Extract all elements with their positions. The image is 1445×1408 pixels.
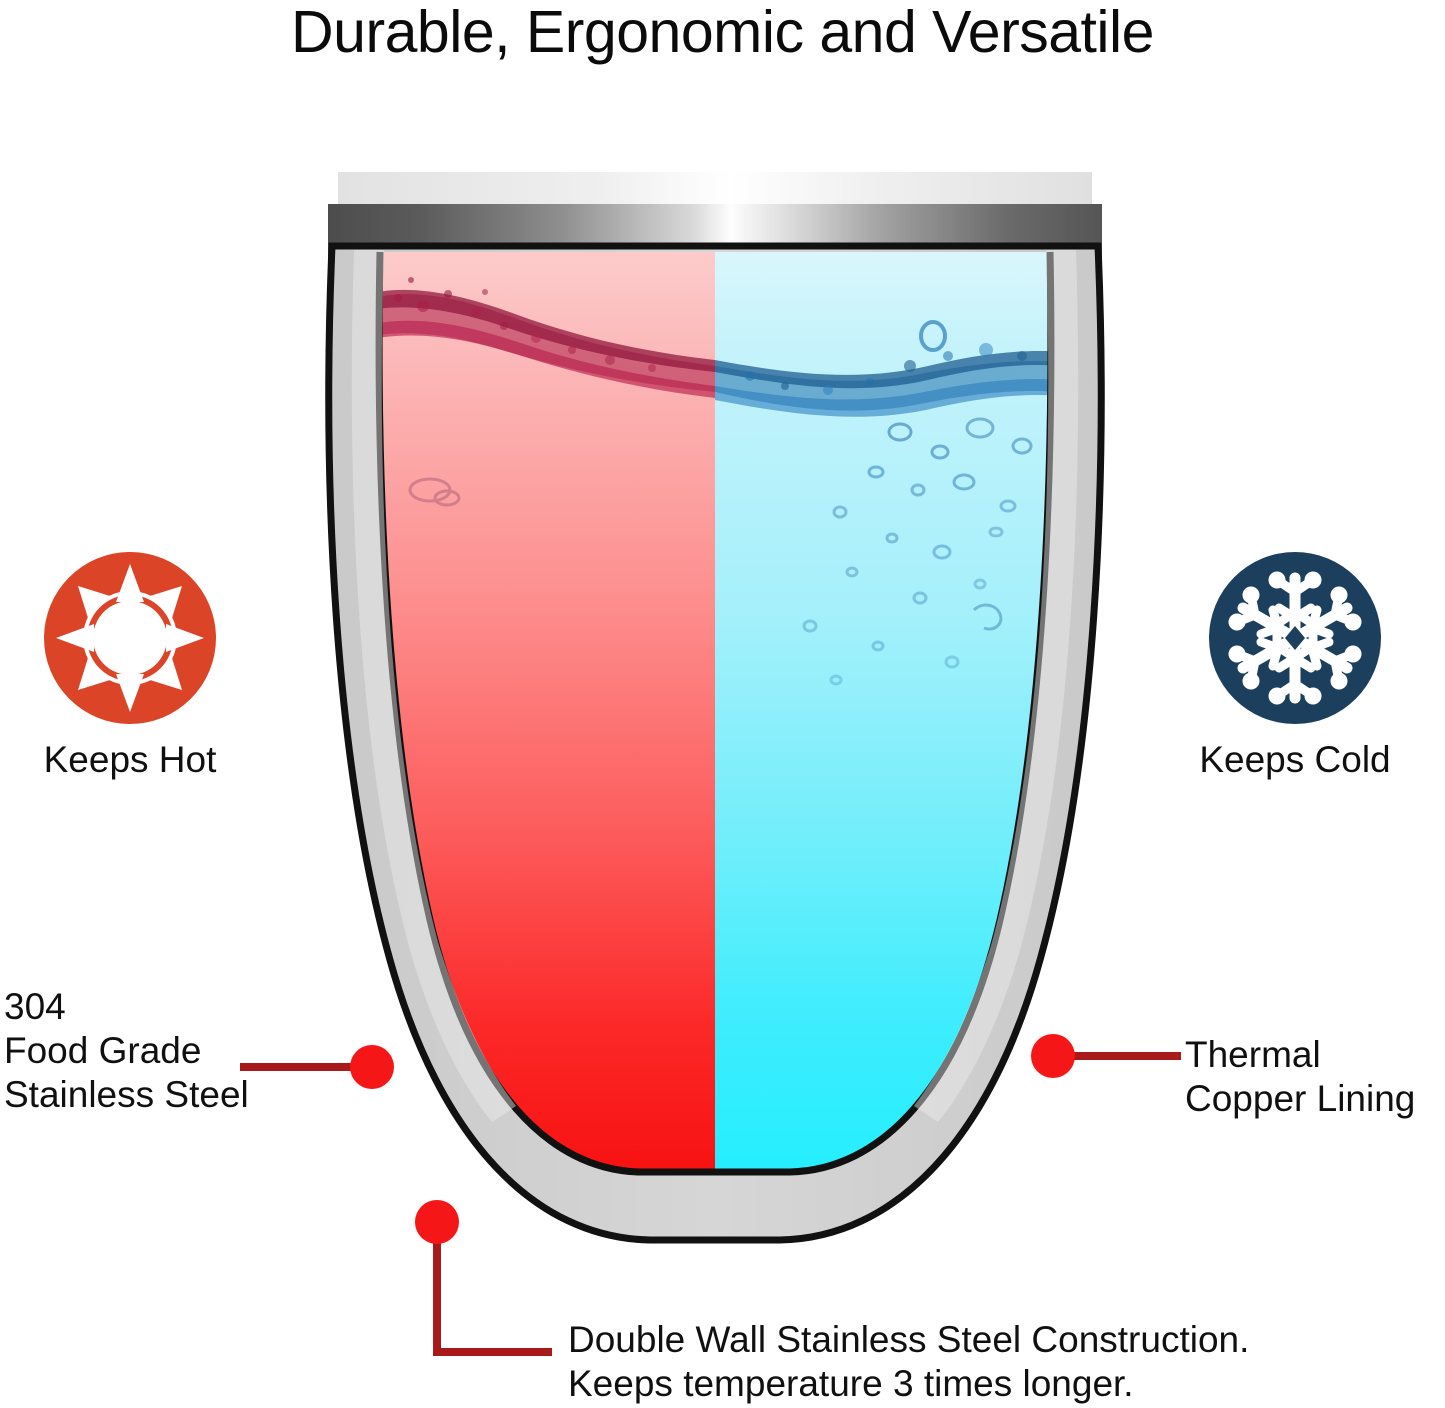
badge-keeps-cold: Keeps Cold xyxy=(1180,552,1410,782)
badge-keeps-hot: Keeps Hot xyxy=(15,552,245,782)
callout-line: Thermal xyxy=(1185,1033,1415,1077)
callout-line: 304 xyxy=(4,985,249,1029)
callout-line: Double Wall Stainless Steel Construction… xyxy=(568,1318,1249,1362)
keeps-cold-circle xyxy=(1209,552,1381,724)
product-infographic: Durable, Ergonomic and Versatile xyxy=(0,0,1445,1408)
snowflake-icon xyxy=(1229,572,1361,704)
callout-line: Stainless Steel xyxy=(4,1073,249,1117)
keeps-hot-circle xyxy=(44,552,216,724)
callout-double-wall: Double Wall Stainless Steel Construction… xyxy=(568,1318,1249,1406)
keeps-cold-label: Keeps Cold xyxy=(1180,738,1410,782)
tumbler-illustration xyxy=(280,160,1150,1310)
page-title: Durable, Ergonomic and Versatile xyxy=(0,0,1445,64)
tumbler-rim-top xyxy=(338,172,1092,204)
callout-line: Food Grade xyxy=(4,1029,249,1073)
callout-line: Keeps temperature 3 times longer. xyxy=(568,1362,1249,1406)
keeps-hot-label: Keeps Hot xyxy=(15,738,245,782)
sun-icon xyxy=(56,564,204,712)
callout-line: Copper Lining xyxy=(1185,1077,1415,1121)
callout-stainless-steel: 304 Food Grade Stainless Steel xyxy=(4,985,249,1117)
callout-copper-lining: Thermal Copper Lining xyxy=(1185,1033,1415,1121)
